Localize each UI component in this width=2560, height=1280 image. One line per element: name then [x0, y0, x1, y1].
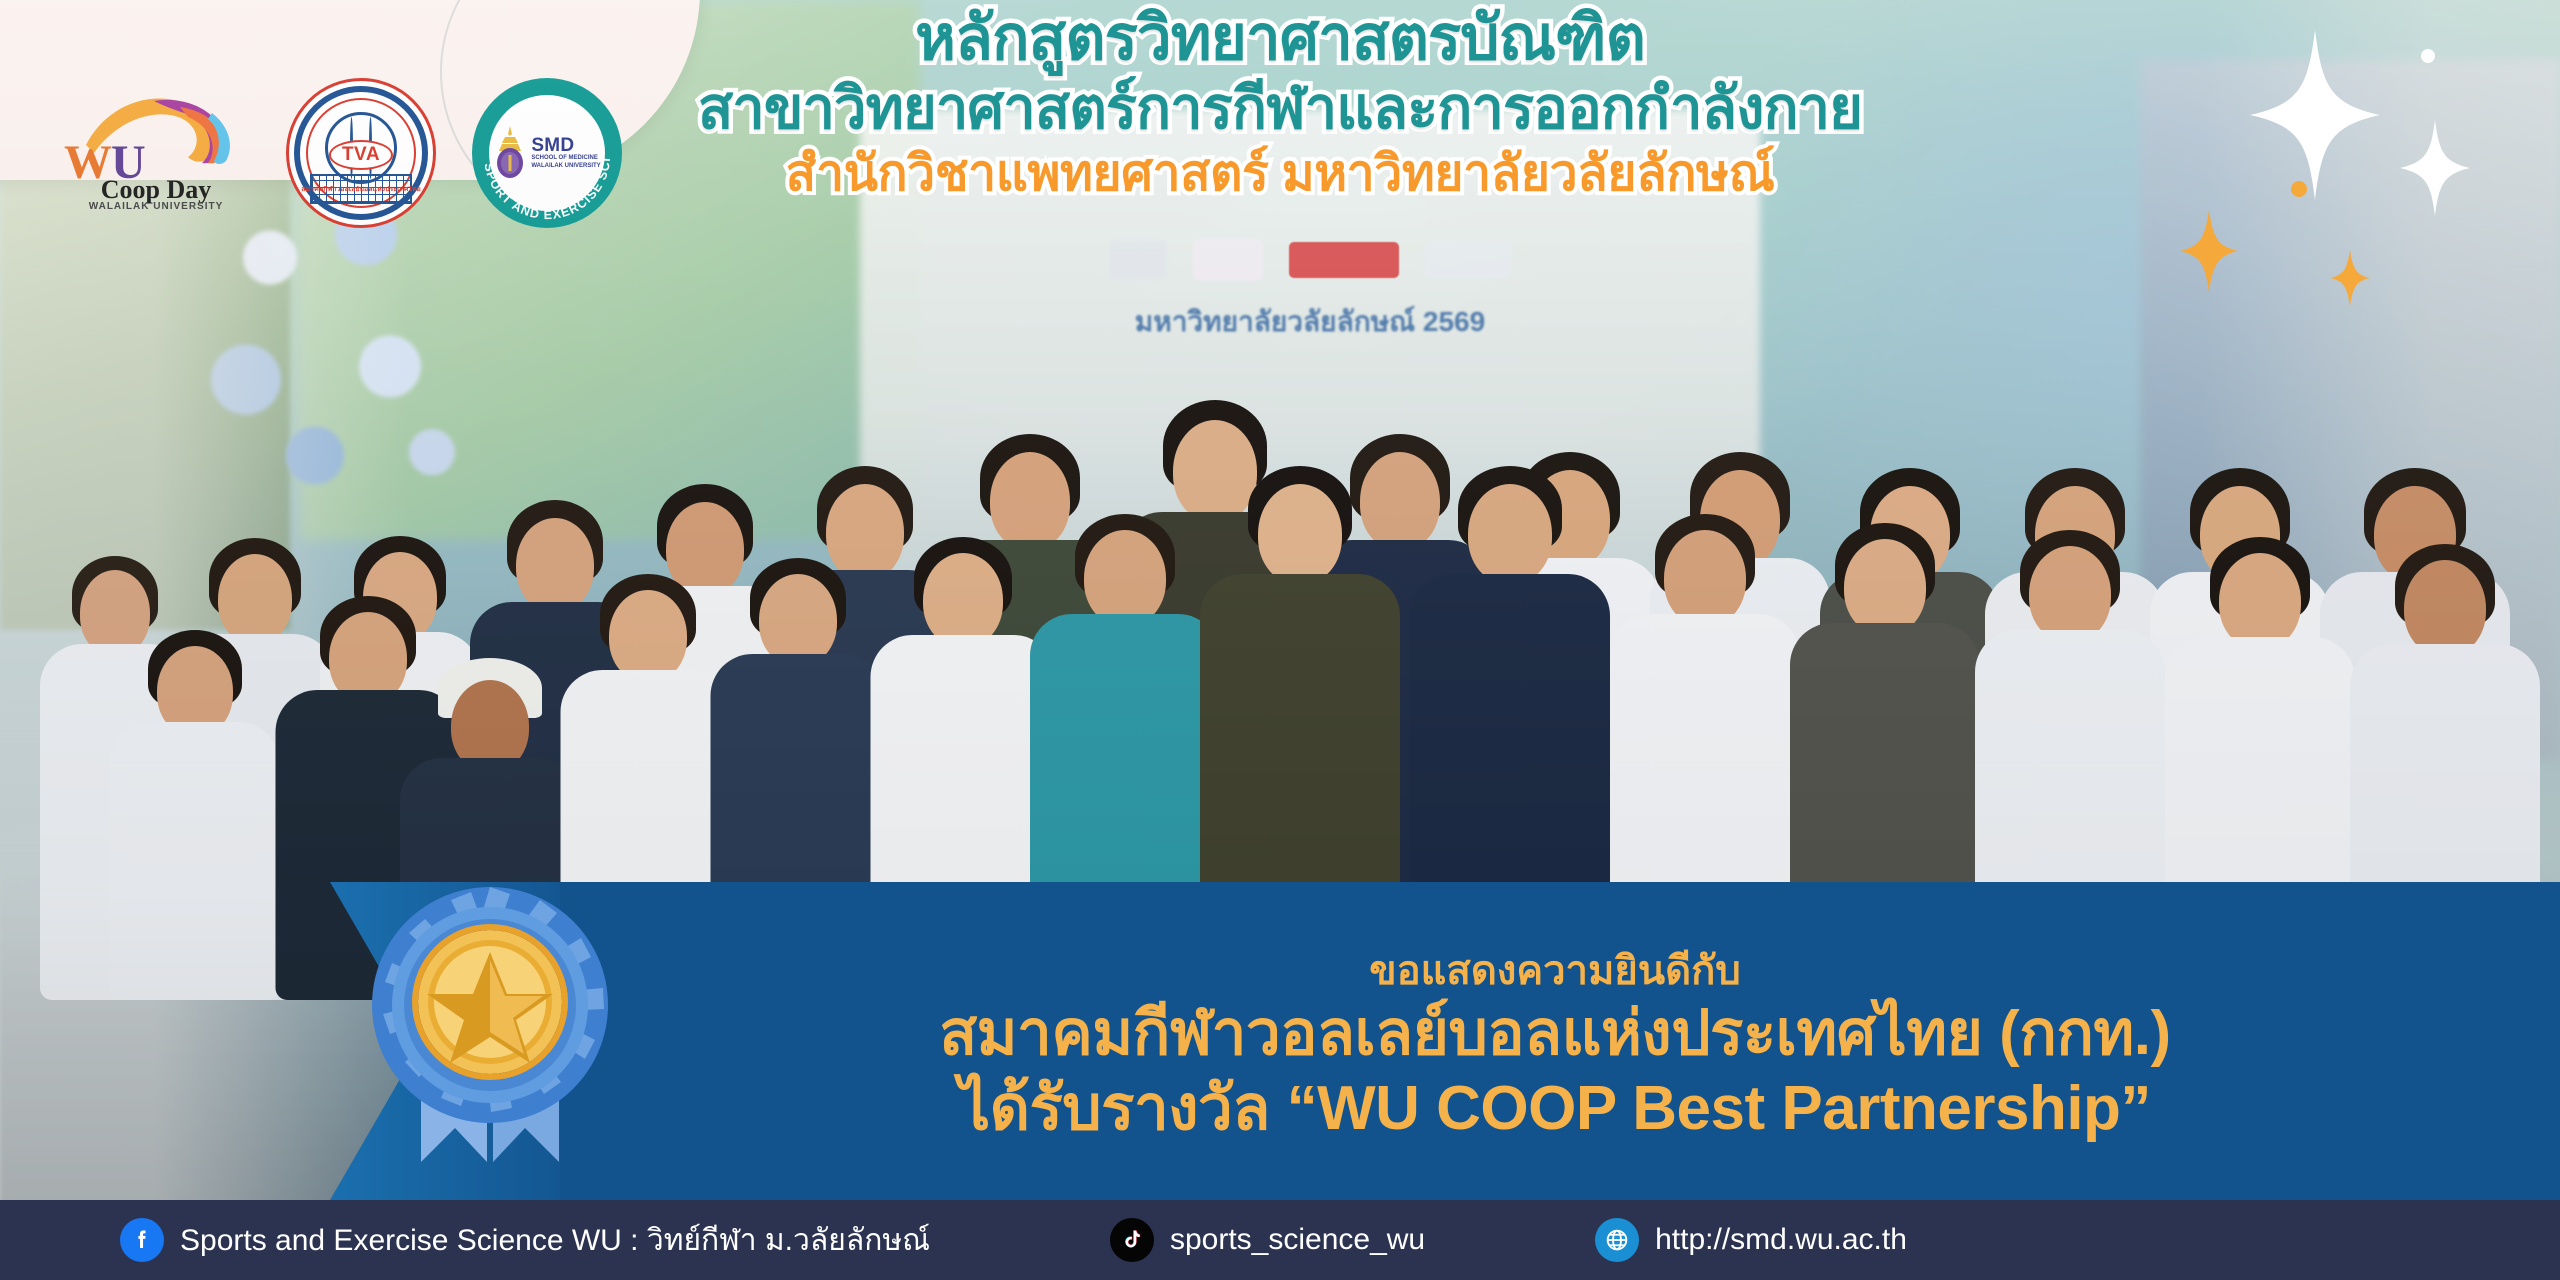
- banner-text-block: ขอแสดงความยินดีกับ สมาคมกีฬาวอลเลย์บอลแห…: [590, 892, 2520, 1200]
- award-rosette-icon: [335, 870, 645, 1170]
- header-line-2: สาขาวิทยาศาสตร์การกีฬาและการออกกำลังกาย: [0, 78, 2560, 139]
- congrats-label: ขอแสดงความยินดีกับ: [590, 949, 2520, 993]
- poster-root: มหาวิทยาลัยวลัยลักษณ์ 2569: [0, 0, 2560, 1280]
- footer-tiktok-label: sports_science_wu: [1170, 1223, 1425, 1257]
- facebook-icon: [120, 1218, 164, 1262]
- footer-bar: Sports and Exercise Science WU : วิทย์กี…: [0, 1200, 2560, 1280]
- footer-facebook-label: Sports and Exercise Science WU : วิทย์กี…: [180, 1217, 930, 1264]
- award-recipient: สมาคมกีฬาวอลเลย์บอลแห่งประเทศไทย (กกท.): [590, 999, 2520, 1068]
- footer-website[interactable]: http://smd.wu.ac.th: [1595, 1218, 1907, 1262]
- sparkle-icon: [2180, 210, 2238, 292]
- globe-icon: [1595, 1218, 1639, 1262]
- header-line-1: หลักสูตรวิทยาศาสตรบัณฑิต: [0, 6, 2560, 72]
- header-text-block: หลักสูตรวิทยาศาสตรบัณฑิต สาขาวิทยาศาสตร์…: [0, 6, 2560, 200]
- footer-tiktok[interactable]: sports_science_wu: [1110, 1218, 1425, 1262]
- header-line-3: สำนักวิชาแพทยศาสตร์ มหาวิทยาลัยวลัยลักษณ…: [0, 147, 2560, 200]
- footer-website-label: http://smd.wu.ac.th: [1655, 1223, 1907, 1257]
- footer-facebook[interactable]: Sports and Exercise Science WU : วิทย์กี…: [120, 1217, 930, 1264]
- tiktok-icon: [1110, 1218, 1154, 1262]
- sparkle-icon: [2330, 250, 2370, 306]
- award-name: ได้รับรางวัล “WU COOP Best Partnership”: [590, 1074, 2520, 1143]
